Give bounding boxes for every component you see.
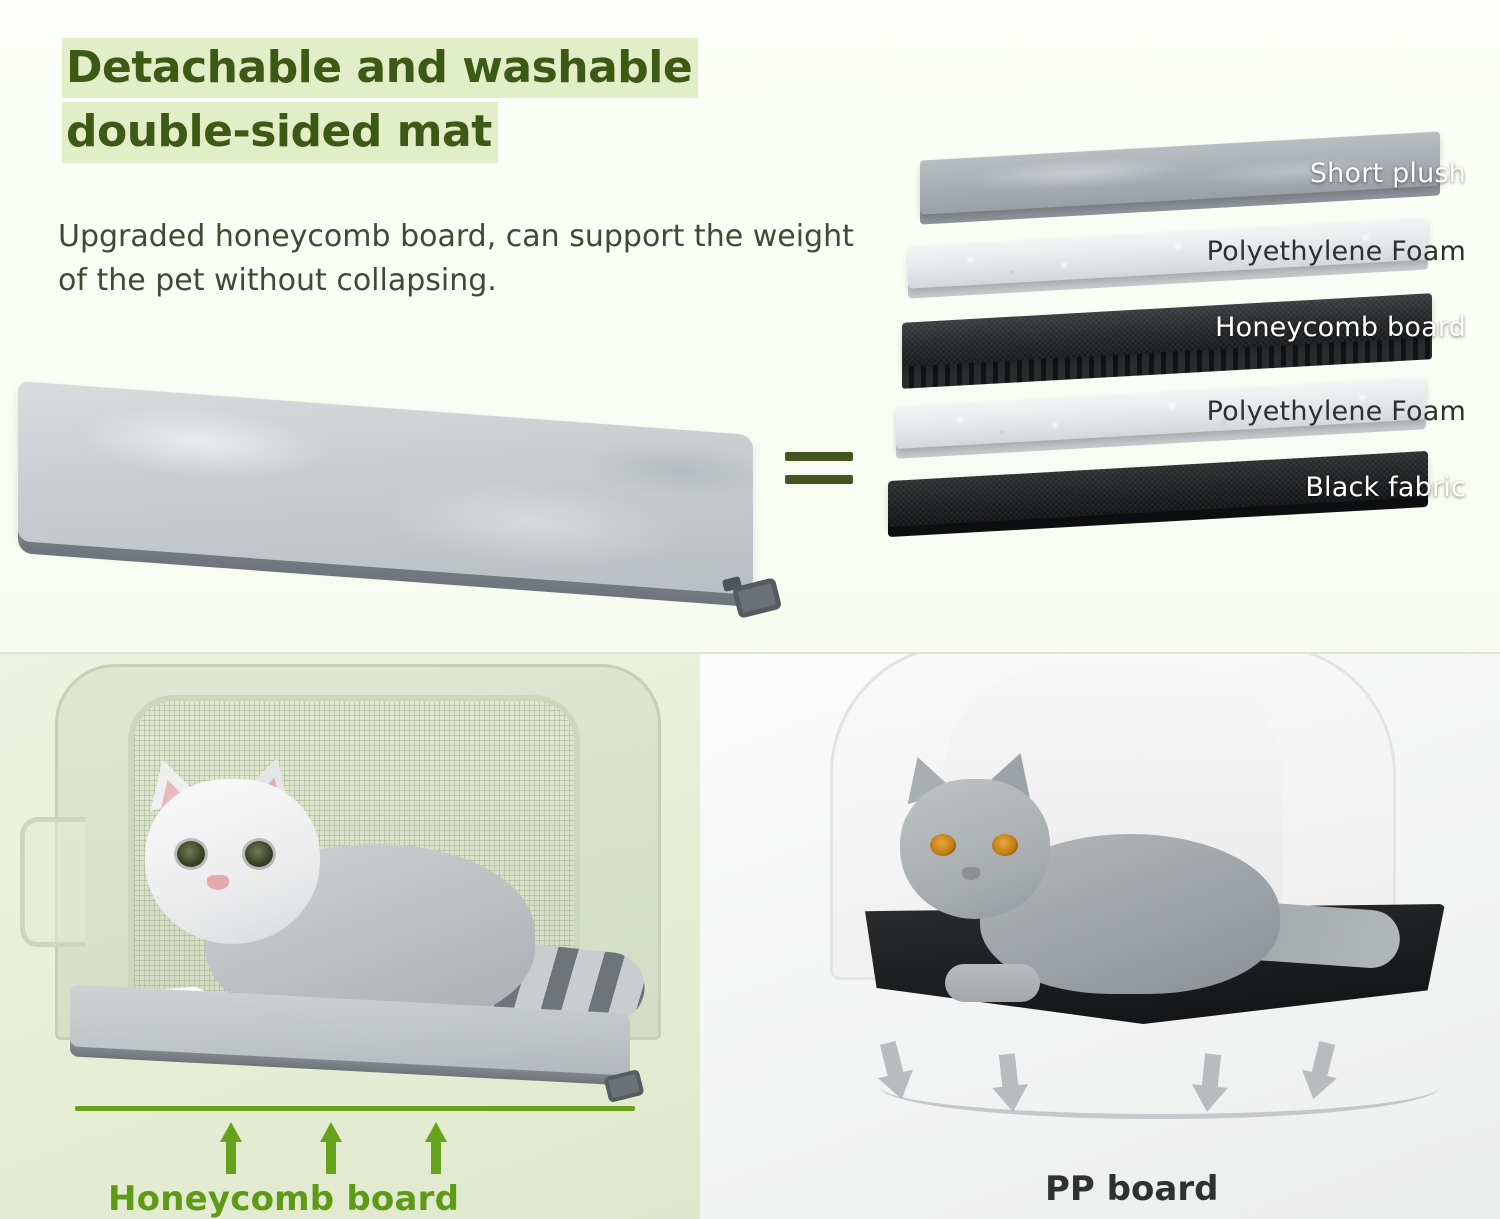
mat-surface [18,381,753,595]
product-infographic: Detachable and washable double-sided mat… [0,0,1500,1219]
gray-cat-paw [945,964,1040,1002]
subheadline: Upgraded honeycomb board, can support th… [58,215,858,302]
gray-plush-mat-image [18,408,778,608]
layer-label-foam-bottom: Polyethylene Foam [1207,396,1466,427]
cat-nose [207,875,229,890]
cat-eye-right [245,841,273,867]
support-arrow-up-3 [425,1122,447,1174]
mat-texture [18,381,753,595]
headline: Detachable and washable double-sided mat [62,38,882,167]
gray-cat-nose [962,867,980,880]
support-baseline-green [75,1106,635,1111]
gray-cat-head [900,779,1050,919]
support-arrow-up-1 [220,1122,242,1174]
layer-label-honeycomb-board: Honeycomb board [1215,312,1466,343]
headline-line-2: double-sided mat [62,102,498,162]
zipper-pull-icon [723,578,779,618]
gray-cat-eye-left [930,834,956,856]
top-section: Detachable and washable double-sided mat… [0,0,1500,654]
layer-label-foam-top: Polyethylene Foam [1207,236,1466,267]
gray-cat-photo [870,734,1400,1024]
collapse-arrow-down-3 [1187,1052,1233,1116]
headline-line-1: Detachable and washable [62,38,698,98]
equals-sign-icon [785,452,853,492]
gray-cat-eye-right [992,834,1018,856]
zipper-pull-icon-bottom [600,1071,644,1101]
layer-label-short-plush: Short plush [1310,158,1466,189]
caption-honeycomb-board: Honeycomb board [108,1179,459,1219]
caption-pp-board: PP board [1045,1169,1218,1209]
collapse-arrow-down-2 [987,1052,1033,1116]
sag-curve-line [880,1054,1440,1119]
cat-head [145,779,320,944]
comparison-section: Honeycomb board [0,654,1500,1219]
comparison-panel-honeycomb: Honeycomb board [0,654,700,1219]
comparison-panel-pp: PP board [700,654,1500,1219]
support-arrow-up-2 [320,1122,342,1174]
carrier-handle [20,817,85,947]
layer-label-black-fabric: Black fabric [1305,472,1466,503]
collapse-arrow-down-1 [868,1038,921,1106]
cat-eye-left [177,841,205,867]
layer-stack-diagram: Short plush Polyethylene Foam Honeycomb … [880,140,1480,610]
honeycomb-mat-flat [70,999,630,1087]
